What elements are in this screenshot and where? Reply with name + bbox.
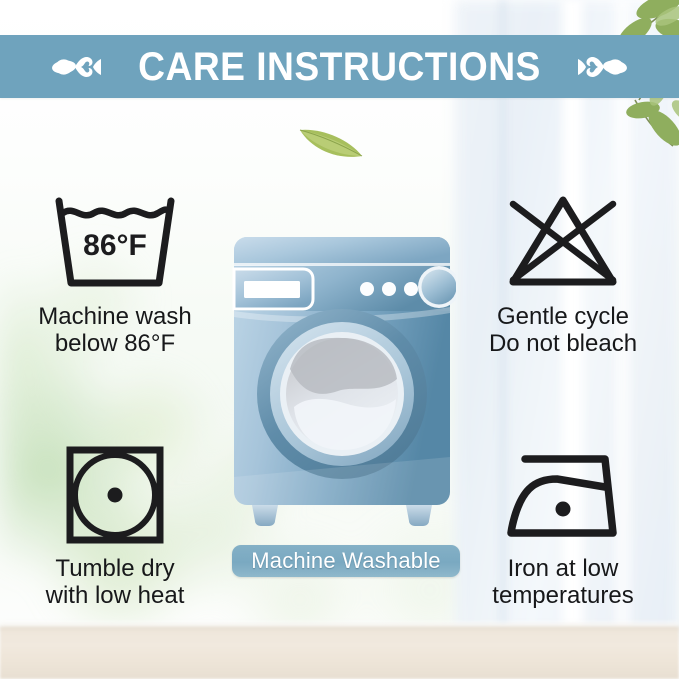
washing-machine-illustration xyxy=(228,207,456,537)
care-item-machine-wash: 86°F Machine wash below 86°F xyxy=(10,188,220,358)
iron-heat-dot xyxy=(556,502,571,517)
header-banner: CARE INSTRUCTIONS xyxy=(0,35,679,98)
care-item-tumble-dry: Tumble dry with low heat xyxy=(10,440,220,610)
care-item-iron: Iron at low temperatures xyxy=(458,440,668,610)
care-icon-wrapper: 86°F xyxy=(49,188,181,298)
indicator-light-3 xyxy=(404,282,418,296)
care-item-do-not-bleach: Gentle cycle Do not bleach xyxy=(458,188,668,358)
fleur-de-lis-left-icon xyxy=(49,45,101,89)
care-icon-wrapper xyxy=(501,440,625,550)
fleur-de-lis-right-icon xyxy=(578,45,630,89)
indicator-light-1 xyxy=(360,282,374,296)
machine-top-lid xyxy=(234,237,450,265)
care-icon-wrapper xyxy=(63,440,167,550)
machine-foot-right xyxy=(406,505,432,526)
drawer-display xyxy=(244,281,300,298)
care-caption-do-not-bleach: Gentle cycle Do not bleach xyxy=(489,304,637,358)
care-instructions-infographic: CARE INSTRUCTIONS 86°F Machine wash belo… xyxy=(0,0,679,679)
floating-leaf-icon xyxy=(298,122,364,162)
machine-lid-seam xyxy=(234,263,450,266)
care-icon-wrapper xyxy=(499,188,627,298)
care-caption-iron: Iron at low temperatures xyxy=(492,556,633,610)
machine-washable-badge: Machine Washable xyxy=(232,545,460,577)
page-title: CARE INSTRUCTIONS xyxy=(138,47,541,87)
iron-icon xyxy=(501,449,625,541)
dry-heat-dot xyxy=(108,488,123,503)
care-caption-machine-wash: Machine wash below 86°F xyxy=(38,304,191,358)
no-bleach-triangle-icon xyxy=(499,192,627,294)
care-caption-tumble-dry: Tumble dry with low heat xyxy=(46,556,185,610)
indicator-light-2 xyxy=(382,282,396,296)
tumble-dry-icon xyxy=(63,443,167,547)
wash-tub-icon: 86°F xyxy=(49,191,181,295)
machine-washable-badge-label: Machine Washable xyxy=(251,548,440,574)
machine-foot-left xyxy=(252,505,278,526)
wash-temperature-value: 86°F xyxy=(83,229,147,262)
program-knob xyxy=(422,270,457,305)
table-surface xyxy=(0,627,679,679)
